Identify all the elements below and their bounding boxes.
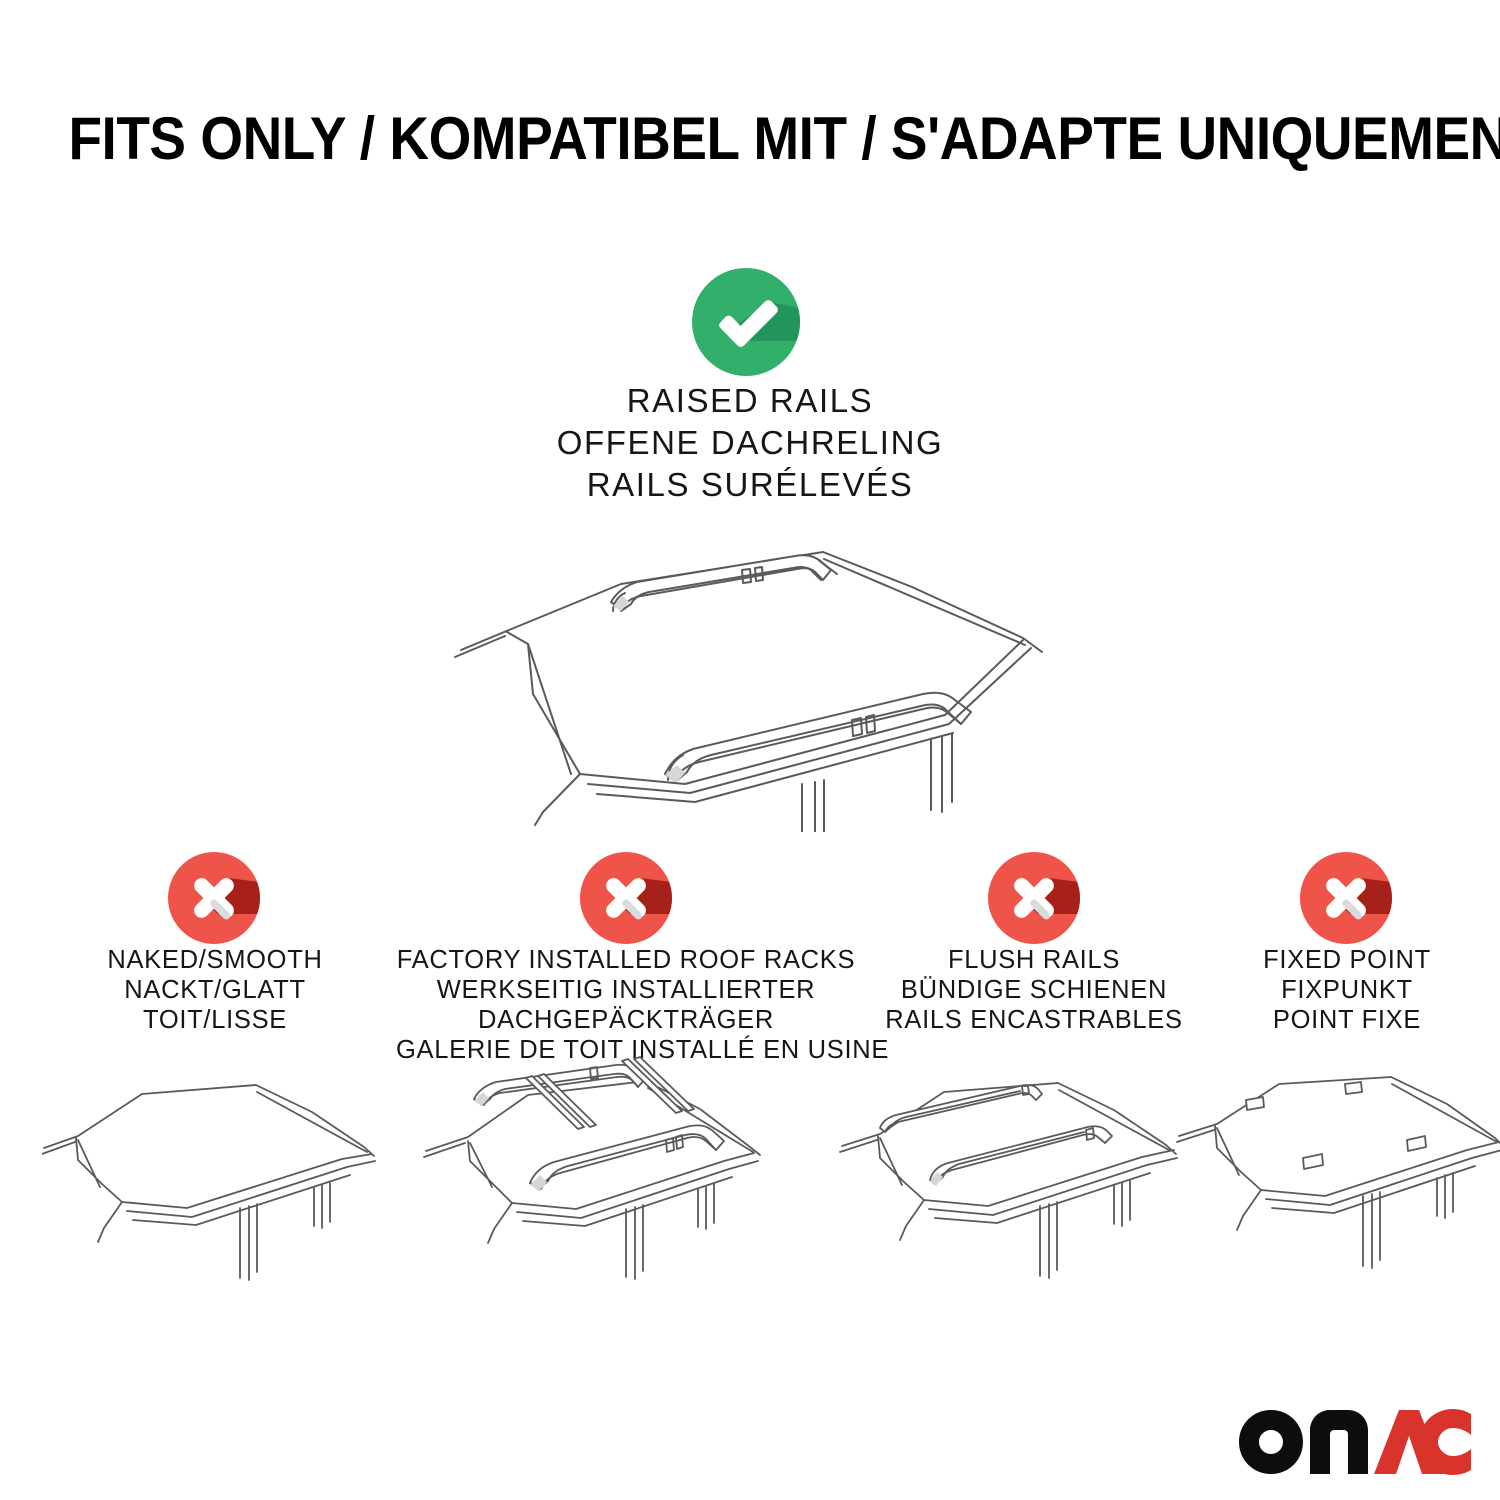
caption-line: TOIT/LISSE	[35, 1005, 395, 1035]
logo-letter-m	[1310, 1410, 1368, 1474]
page-title: FITS ONLY / KOMPATIBEL MIT / S'ADAPTE UN…	[0, 104, 1500, 174]
compatible-caption-line-2: OFFENE DACHRELING	[450, 422, 1050, 464]
caption-line: BÜNDIGE SCHIENEN	[858, 975, 1210, 1005]
caption-line: FACTORY INSTALLED ROOF RACKS	[396, 945, 856, 975]
page-title-text: FITS ONLY / KOMPATIBEL MIT / S'ADAPTE UN…	[68, 104, 1500, 174]
car-roof-factory-roof-rack-illustration	[408, 1055, 776, 1313]
caption-line: NACKT/GLATT	[35, 975, 395, 1005]
logo-letter-o	[1239, 1410, 1303, 1474]
caption-line: NAKED/SMOOTH	[35, 945, 395, 975]
caption-line: POINT FIXE	[1210, 1005, 1484, 1035]
caption-line: RAILS ENCASTRABLES	[858, 1005, 1210, 1035]
caption-line: DACHGEPÄCKTRÄGER	[396, 1005, 856, 1035]
incompatible-caption-factory-roof-racks: FACTORY INSTALLED ROOF RACKS WERKSEITIG …	[396, 945, 856, 1065]
caption-line: FIXED POINT	[1210, 945, 1484, 975]
car-roof-naked-smooth-illustration	[42, 1062, 392, 1312]
compatible-caption: RAISED RAILS OFFENE DACHRELING RAILS SUR…	[450, 380, 1050, 506]
caption-line: FLUSH RAILS	[858, 945, 1210, 975]
compatible-caption-line-3: RAILS SURÉLEVÉS	[450, 464, 1050, 506]
incompatible-caption-naked-smooth: NAKED/SMOOTH NACKT/GLATT TOIT/LISSE	[35, 945, 395, 1035]
car-roof-fixed-point-illustration	[1165, 1062, 1500, 1312]
caption-line: FIXPUNKT	[1210, 975, 1484, 1005]
incompatible-caption-flush-rails: FLUSH RAILS BÜNDIGE SCHIENEN RAILS ENCAS…	[858, 945, 1210, 1035]
cross-circle-icon	[988, 852, 1080, 944]
cross-circle-icon	[168, 852, 260, 944]
incompatible-caption-fixed-point: FIXED POINT FIXPUNKT POINT FIXE	[1210, 945, 1484, 1035]
omac-logo	[1238, 1408, 1472, 1476]
check-circle-icon	[692, 268, 800, 376]
compatible-caption-line-1: RAISED RAILS	[450, 380, 1050, 422]
cross-circle-icon	[1300, 852, 1392, 944]
car-roof-flush-rails-illustration	[836, 1062, 1196, 1312]
cross-circle-icon	[580, 852, 672, 944]
caption-line: WERKSEITIG INSTALLIERTER	[396, 975, 856, 1005]
car-roof-with-raised-rails-illustration	[425, 512, 1095, 832]
